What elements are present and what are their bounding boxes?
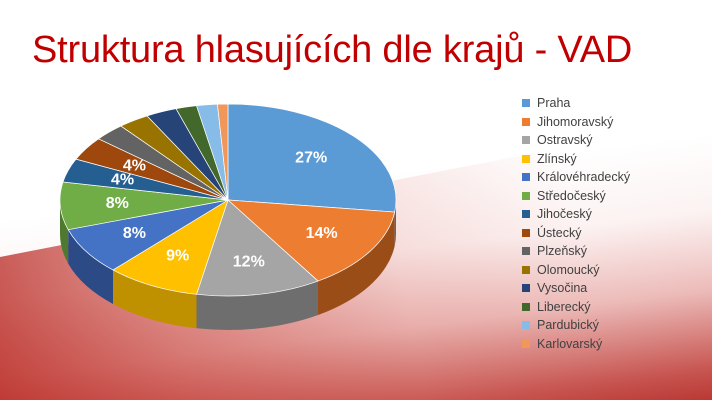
- legend-swatch-icon: [522, 210, 530, 218]
- legend-swatch-icon: [522, 155, 530, 163]
- pie-slice-label: 8%: [106, 195, 129, 212]
- legend-item-label: Zlínský: [537, 150, 577, 169]
- pie-slice-label: 8%: [123, 225, 146, 242]
- pie-slice-label: 1%: [213, 92, 231, 97]
- legend-item[interactable]: Královéhradecký: [522, 168, 702, 187]
- legend-item-label: Liberecký: [537, 298, 591, 317]
- legend-swatch-icon: [522, 247, 530, 255]
- legend-item-label: Olomoucký: [537, 261, 600, 280]
- chart-legend: PrahaJihomoravskýOstravskýZlínskýKrálové…: [522, 94, 702, 353]
- legend-item[interactable]: Pardubický: [522, 316, 702, 335]
- legend-item[interactable]: Jihomoravský: [522, 113, 702, 132]
- pie-slice-label: 12%: [233, 253, 265, 270]
- legend-item-label: Pardubický: [537, 316, 599, 335]
- pie-chart-svg[interactable]: 27%14%12%9%8%8%4%4%3%3%3%2%2%1%: [60, 92, 500, 332]
- legend-item-label: Plzeňský: [537, 242, 587, 261]
- pie-slice-label: 2%: [172, 92, 190, 100]
- pie-slice-label: 4%: [123, 157, 146, 174]
- legend-swatch-icon: [522, 99, 530, 107]
- legend-item[interactable]: Plzeňský: [522, 242, 702, 261]
- pie-slice-label: 2%: [195, 92, 213, 98]
- legend-item-label: Praha: [537, 94, 570, 113]
- legend-item[interactable]: Praha: [522, 94, 702, 113]
- slide-canvas: Struktura hlasujících dle krajů - VAD 27…: [0, 0, 712, 400]
- legend-item[interactable]: Ostravský: [522, 131, 702, 150]
- legend-item[interactable]: Olomoucký: [522, 261, 702, 280]
- pie-chart[interactable]: 27%14%12%9%8%8%4%4%3%3%3%2%2%1%: [60, 92, 500, 332]
- legend-item-label: Ostravský: [537, 131, 593, 150]
- page-title: Struktura hlasujících dle krajů - VAD: [32, 27, 632, 73]
- pie-slice-label: 14%: [306, 225, 338, 242]
- legend-item[interactable]: Ústecký: [522, 224, 702, 243]
- legend-swatch-icon: [522, 192, 530, 200]
- legend-swatch-icon: [522, 303, 530, 311]
- legend-item-label: Vysočina: [537, 279, 587, 298]
- legend-swatch-icon: [522, 173, 530, 181]
- pie-slice-label: 3%: [84, 115, 102, 129]
- legend-item-label: Středočeský: [537, 187, 606, 206]
- legend-item-label: Jihomoravský: [537, 113, 613, 132]
- pie-slice-label: 27%: [295, 149, 327, 166]
- legend-swatch-icon: [522, 229, 530, 237]
- legend-item-label: Karlovarský: [537, 335, 602, 354]
- legend-swatch-icon: [522, 118, 530, 126]
- legend-item-label: Jihočeský: [537, 205, 592, 224]
- legend-item[interactable]: Středočeský: [522, 187, 702, 206]
- legend-swatch-icon: [522, 340, 530, 348]
- legend-item[interactable]: Jihočeský: [522, 205, 702, 224]
- legend-swatch-icon: [522, 136, 530, 144]
- legend-item-label: Královéhradecký: [537, 168, 630, 187]
- legend-item[interactable]: Zlínský: [522, 150, 702, 169]
- legend-swatch-icon: [522, 321, 530, 329]
- pie-slice-label: 3%: [112, 102, 130, 116]
- legend-item[interactable]: Liberecký: [522, 298, 702, 317]
- legend-item[interactable]: Karlovarský: [522, 335, 702, 354]
- pie-slice-label: 9%: [166, 248, 189, 265]
- legend-swatch-icon: [522, 284, 530, 292]
- pie-slice-label: 3%: [143, 92, 161, 106]
- legend-item-label: Ústecký: [537, 224, 581, 243]
- legend-item[interactable]: Vysočina: [522, 279, 702, 298]
- legend-swatch-icon: [522, 266, 530, 274]
